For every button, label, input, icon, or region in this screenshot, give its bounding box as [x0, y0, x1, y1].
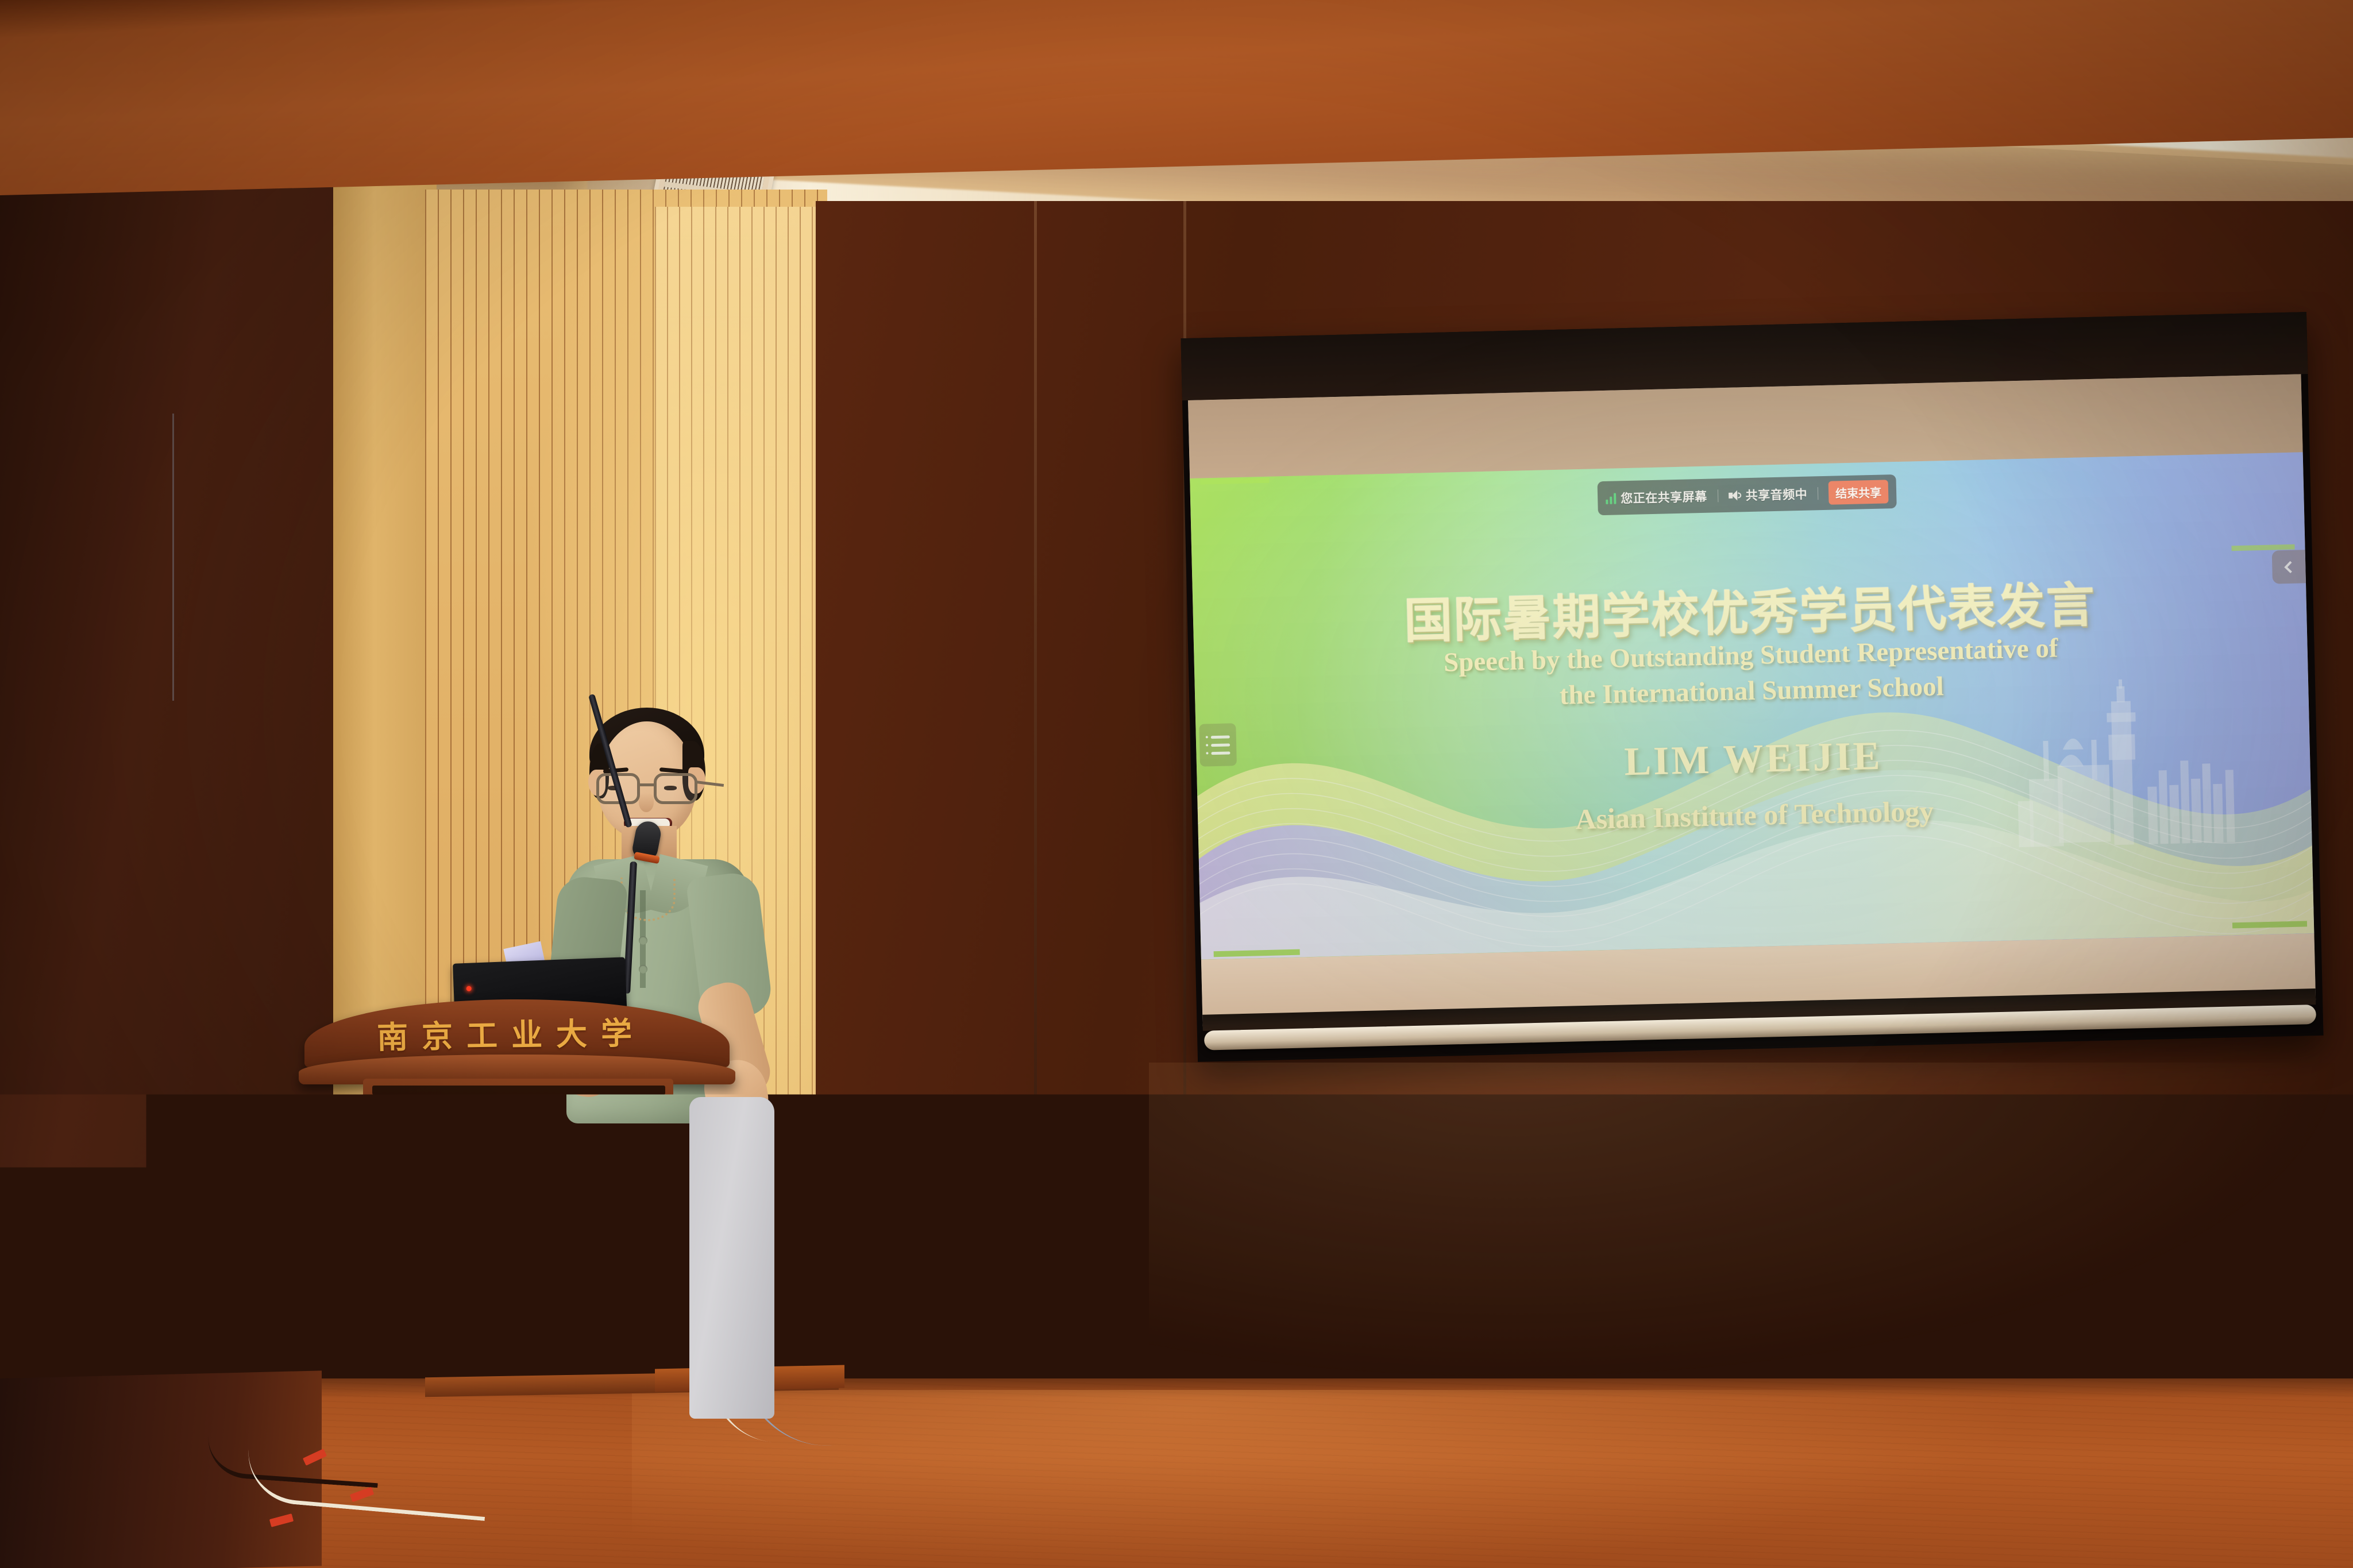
signal-bars-icon [1606, 492, 1616, 504]
nose [639, 793, 654, 812]
sharing-status: 您正在共享屏幕 [1606, 487, 1707, 507]
screen-surface: 您正在共享屏幕 共享音频中 结束共享 国际暑期学校优秀学员代表发言 Sp [1188, 374, 2316, 1026]
toolbar-divider [1717, 489, 1718, 502]
university-crest: 1902 南京工业大学 NANJING TECH UNIVERSITY [451, 1241, 590, 1413]
podium-university-name: 南京工业大学 [298, 1006, 724, 1059]
chevron-left-icon[interactable] [2272, 550, 2306, 584]
trouser-seam [172, 414, 174, 701]
crest-founded-year: 1902 [510, 1318, 532, 1329]
shirt-button [639, 936, 647, 945]
end-share-button[interactable]: 结束共享 [1829, 480, 1889, 504]
toolbar-divider [1818, 487, 1819, 500]
projection-screen: 您正在共享屏幕 共享音频中 结束共享 国际暑期学校优秀学员代表发言 Sp [1181, 312, 2323, 1062]
lectern-podium: 南京工业大学 [299, 999, 735, 1505]
audio-status-label: 共享音频中 [1745, 485, 1807, 504]
list-menu-icon[interactable] [1199, 723, 1237, 766]
sharing-status-label: 您正在共享屏幕 [1621, 487, 1707, 507]
power-led [466, 986, 472, 991]
podium-base-stripe [361, 1437, 680, 1447]
speaker-audio-icon [1728, 490, 1741, 501]
podium-groove [372, 1086, 665, 1095]
crest-university-cn: 南京工业大学 [488, 1350, 553, 1363]
podium-base-stripe [361, 1470, 680, 1481]
wall-power-outlet[interactable] [1853, 1243, 1888, 1279]
shirt-button [639, 965, 647, 974]
wall-seam [1034, 201, 1037, 1384]
presentation-slide: 您正在共享屏幕 共享音频中 结束共享 国际暑期学校优秀学员代表发言 Sp [1190, 452, 2314, 959]
conference-hall-photo: 您正在共享屏幕 共享音频中 结束共享 国际暑期学校优秀学员代表发言 Sp [0, 0, 2353, 1568]
audio-status: 共享音频中 [1728, 485, 1807, 504]
podium-base [356, 1401, 678, 1511]
screen-share-toolbar[interactable]: 您正在共享屏幕 共享音频中 结束共享 [1597, 474, 1896, 515]
